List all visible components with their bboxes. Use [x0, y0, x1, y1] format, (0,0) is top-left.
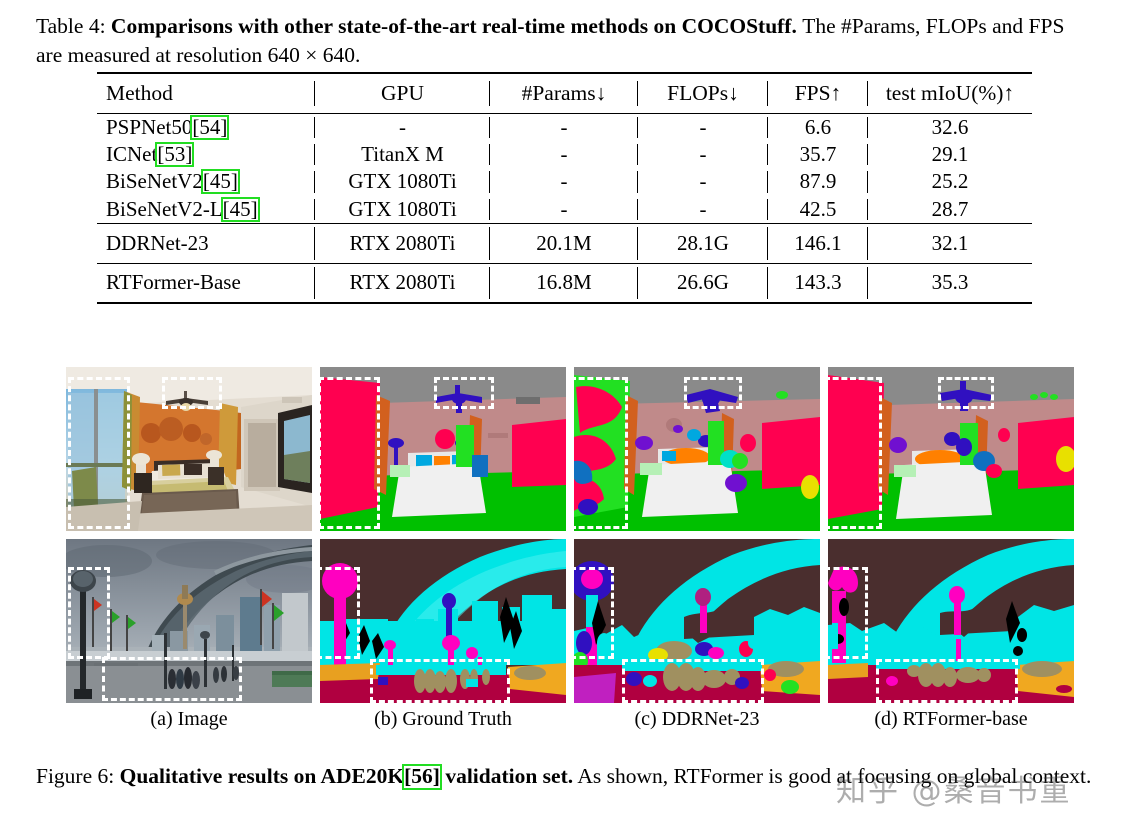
cell-flops: 26.6G — [638, 263, 768, 303]
paper-page: Table 4: Comparisons with other state-of… — [0, 0, 1128, 833]
cell-miou: 32.6 — [868, 113, 1032, 141]
table-header-row: Method GPU #Params↓ FLOPs↓ FPS↑ test mIo… — [97, 73, 1032, 113]
table-row: BiSeNetV2-L[45] GTX 1080Ti - - 42.5 28.7 — [97, 196, 1032, 224]
cell-method: PSPNet50[54] — [97, 113, 315, 141]
highlight-box-window — [320, 377, 380, 529]
cell-flops: 28.1G — [638, 223, 768, 263]
comparison-table: Method GPU #Params↓ FLOPs↓ FPS↑ test mIo… — [97, 72, 1032, 304]
highlight-box-ceiling-fan — [938, 377, 994, 409]
highlight-box-window — [574, 377, 628, 529]
header-method: Method — [97, 73, 315, 113]
method-name: PSPNet50 — [106, 115, 192, 139]
cell-flops: - — [638, 168, 768, 196]
method-name: BiSeNetV2-L — [106, 197, 223, 221]
cell-miou: 28.7 — [868, 196, 1032, 224]
cell-gpu: GTX 1080Ti — [315, 196, 490, 224]
panel-ground-truth-bedroom — [320, 367, 566, 531]
highlight-box-window — [828, 377, 882, 529]
figure-caption: Figure 6: Qualitative results on ADE20K[… — [36, 762, 1092, 791]
panel-image-bedroom — [66, 367, 312, 531]
citation-ref[interactable]: [53] — [157, 144, 192, 165]
panel-rtformer-bedroom — [828, 367, 1074, 531]
cell-params: - — [490, 196, 638, 224]
cell-params: - — [490, 168, 638, 196]
cell-method: BiSeNetV2[45] — [97, 168, 315, 196]
table-caption-label: Table 4: — [36, 14, 106, 38]
cell-params: 20.1M — [490, 223, 638, 263]
cell-miou: 25.2 — [868, 168, 1032, 196]
figure-caption-rest: As shown, RTFormer is good at focusing o… — [577, 764, 1091, 788]
cell-fps: 42.5 — [768, 196, 868, 224]
cell-params: - — [490, 113, 638, 141]
table-row: DDRNet-23 RTX 2080Ti 20.1M 28.1G 146.1 3… — [97, 223, 1032, 263]
cell-method: ICNet[53] — [97, 141, 315, 169]
cell-flops: - — [638, 113, 768, 141]
panel-ground-truth-cityscape — [320, 539, 566, 703]
highlight-box-window — [68, 377, 130, 529]
cell-fps: 143.3 — [768, 263, 868, 303]
panel-image-cityscape — [66, 539, 312, 703]
cell-miou: 29.1 — [868, 141, 1032, 169]
table-caption-bold: Comparisons with other state-of-the-art … — [111, 14, 797, 38]
figure-subcaptions: (a) Image (b) Ground Truth (c) DDRNet-23… — [66, 708, 1074, 734]
highlight-box-crowd — [876, 659, 1018, 703]
cell-miou: 35.3 — [868, 263, 1032, 303]
cell-params: - — [490, 141, 638, 169]
subcaption-a: (a) Image — [66, 708, 312, 731]
cell-flops: - — [638, 141, 768, 169]
figure-caption-label: Figure 6: — [36, 764, 114, 788]
figure-row-bedroom — [66, 367, 1074, 531]
citation-ref[interactable]: [45] — [223, 199, 258, 220]
highlight-box-crowd — [102, 657, 242, 701]
table-row: BiSeNetV2[45] GTX 1080Ti - - 87.9 25.2 — [97, 168, 1032, 196]
figure-row-cityscape — [66, 539, 1074, 703]
highlight-box-crowd — [370, 659, 510, 703]
cell-gpu: RTX 2080Ti — [315, 223, 490, 263]
method-name: BiSeNetV2 — [106, 169, 203, 193]
header-flops: FLOPs↓ — [638, 73, 768, 113]
method-name: ICNet — [106, 142, 157, 166]
highlight-box-lamp — [68, 567, 110, 659]
panel-ddrnet-bedroom — [574, 367, 820, 531]
cell-fps: 35.7 — [768, 141, 868, 169]
header-params: #Params↓ — [490, 73, 638, 113]
cell-gpu: GTX 1080Ti — [315, 168, 490, 196]
highlight-box-lamp — [574, 567, 614, 659]
cell-gpu: - — [315, 113, 490, 141]
citation-ref[interactable]: [56] — [404, 766, 440, 788]
table-row: PSPNet50[54] - - - 6.6 32.6 — [97, 113, 1032, 141]
cell-gpu: RTX 2080Ti — [315, 263, 490, 303]
cell-method: RTFormer-Base — [97, 263, 315, 303]
cell-method: BiSeNetV2-L[45] — [97, 196, 315, 224]
table-row: ICNet[53] TitanX M - - 35.7 29.1 — [97, 141, 1032, 169]
figure-caption-bold2: validation set. — [445, 764, 573, 788]
citation-ref[interactable]: [45] — [203, 171, 238, 192]
highlight-box-ceiling-fan — [684, 377, 742, 409]
highlight-box-lamp — [828, 567, 868, 659]
highlight-box-lamp — [320, 567, 360, 659]
cell-params: 16.8M — [490, 263, 638, 303]
subcaption-c: (c) DDRNet-23 — [574, 708, 820, 731]
citation-ref[interactable]: [54] — [192, 117, 227, 138]
subcaption-b: (b) Ground Truth — [320, 708, 566, 731]
cell-fps: 6.6 — [768, 113, 868, 141]
header-fps: FPS↑ — [768, 73, 868, 113]
panel-ddrnet-cityscape — [574, 539, 820, 703]
table-row-highlight: RTFormer-Base RTX 2080Ti 16.8M 26.6G 143… — [97, 263, 1032, 303]
comparison-table-wrapper: Method GPU #Params↓ FLOPs↓ FPS↑ test mIo… — [97, 72, 1032, 304]
cell-flops: - — [638, 196, 768, 224]
cell-fps: 87.9 — [768, 168, 868, 196]
header-gpu: GPU — [315, 73, 490, 113]
panel-rtformer-cityscape — [828, 539, 1074, 703]
highlight-box-crowd — [622, 659, 764, 703]
cell-miou: 32.1 — [868, 223, 1032, 263]
qualitative-results-figure — [66, 367, 1074, 703]
highlight-box-ceiling-fan — [434, 377, 494, 409]
table-caption: Table 4: Comparisons with other state-of… — [36, 12, 1092, 70]
highlight-box-ceiling-fan — [162, 377, 222, 409]
cell-gpu: TitanX M — [315, 141, 490, 169]
figure-caption-bold: Qualitative results on ADE20K — [120, 764, 405, 788]
subcaption-d: (d) RTFormer-base — [828, 708, 1074, 731]
cell-fps: 146.1 — [768, 223, 868, 263]
cell-method: DDRNet-23 — [97, 223, 315, 263]
header-miou: test mIoU(%)↑ — [868, 73, 1032, 113]
